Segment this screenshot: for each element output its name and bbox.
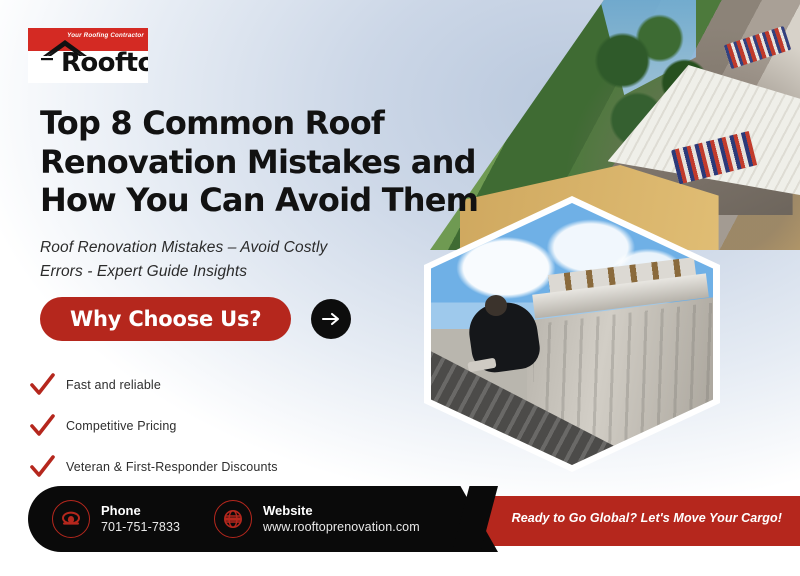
list-item: Fast and reliable bbox=[28, 370, 278, 400]
subtitle: Roof Renovation Mistakes – Avoid Costly … bbox=[40, 236, 420, 285]
list-item: Competitive Pricing bbox=[28, 411, 278, 441]
arrow-right-circle-icon[interactable] bbox=[311, 299, 351, 339]
brand-logo[interactable]: Your Roofing Contractor Rooftop bbox=[28, 28, 148, 83]
contact-phone-value: 701-751-7833 bbox=[101, 519, 180, 535]
why-choose-us-button[interactable]: Why Choose Us? bbox=[40, 297, 291, 341]
check-icon bbox=[28, 414, 56, 438]
footer-bar: Phone 701-751-7833 Website www.rooftopre… bbox=[0, 486, 800, 552]
list-item-label: Veteran & First-Responder Discounts bbox=[66, 460, 278, 474]
subtitle-line-2: Errors - Expert Guide Insights bbox=[40, 260, 420, 284]
feature-list: Fast and reliable Competitive Pricing Ve… bbox=[28, 370, 278, 493]
check-icon bbox=[28, 455, 56, 479]
contact-website[interactable]: Website www.rooftoprenovation.com bbox=[214, 500, 420, 538]
list-item-label: Fast and reliable bbox=[66, 378, 161, 392]
list-item-label: Competitive Pricing bbox=[66, 419, 177, 433]
logo-wordmark: Rooftop bbox=[61, 50, 148, 76]
cta-row: Why Choose Us? bbox=[40, 297, 351, 341]
subtitle-line-1: Roof Renovation Mistakes – Avoid Costly bbox=[40, 236, 420, 260]
page-title: Top 8 Common Roof Renovation Mistakes an… bbox=[40, 104, 510, 220]
contact-phone[interactable]: Phone 701-751-7833 bbox=[52, 500, 180, 538]
contact-website-title: Website bbox=[263, 503, 420, 519]
poster-canvas: Your Roofing Contractor Rooftop Top 8 Co… bbox=[0, 0, 800, 576]
hexagon-photo bbox=[424, 196, 720, 472]
contact-website-value: www.rooftoprenovation.com bbox=[263, 519, 420, 535]
list-item: Veteran & First-Responder Discounts bbox=[28, 452, 278, 482]
phone-icon bbox=[52, 500, 90, 538]
contact-phone-title: Phone bbox=[101, 503, 180, 519]
check-icon bbox=[28, 373, 56, 397]
footer-banner-text: Ready to Go Global? Let's Move Your Carg… bbox=[512, 511, 782, 525]
globe-icon bbox=[214, 500, 252, 538]
photo-worker-head bbox=[485, 295, 508, 316]
